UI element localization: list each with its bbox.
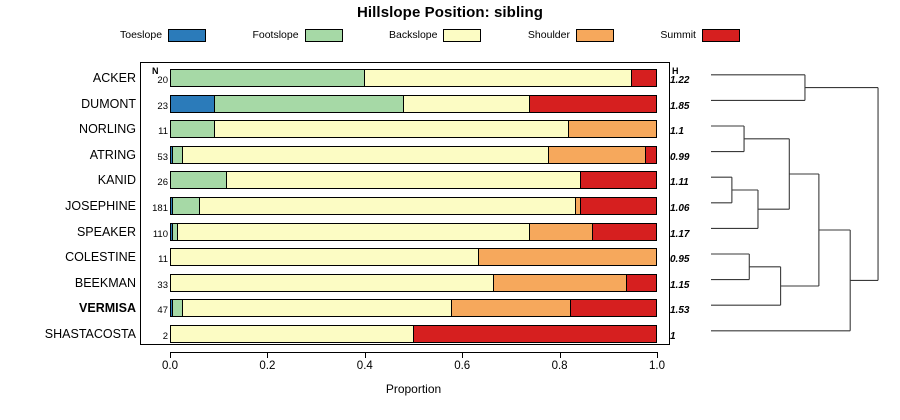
stacked-bar	[170, 248, 657, 266]
row-h-value: 1.11	[670, 168, 704, 194]
bar-segment-summit	[627, 275, 656, 291]
x-tick-label: 0.2	[247, 360, 287, 372]
row-label-speaker: SPEAKER	[77, 220, 136, 246]
x-tick	[560, 352, 561, 358]
row-label-josephine: JOSEPHINE	[65, 194, 136, 220]
bar-segment-summit	[571, 300, 656, 316]
bar-segment-shoulder	[549, 147, 646, 163]
legend-item-backslope: Backslope	[389, 29, 481, 42]
bar-segment-backslope	[404, 96, 530, 112]
x-tick	[170, 352, 171, 358]
row-h-value: 1.06	[670, 194, 704, 220]
row-n-value: 23	[148, 92, 168, 118]
legend-item-toeslope: Toeslope	[120, 29, 206, 42]
bar-segment-footslope	[171, 172, 227, 188]
x-tick-label: 0.0	[150, 360, 190, 372]
stacked-bar	[170, 95, 657, 113]
row-n-value: 20	[148, 66, 168, 92]
row-n-value: 26	[148, 168, 168, 194]
row-h-value: 1.1	[670, 117, 704, 143]
bar-segment-shoulder	[494, 275, 627, 291]
row-n-value: 11	[148, 245, 168, 271]
stacked-bar	[170, 120, 657, 138]
legend-label: Backslope	[389, 29, 437, 41]
row-label-acker: ACKER	[93, 66, 136, 92]
bar-segment-shoulder	[479, 249, 656, 265]
row-n-value: 110	[148, 220, 168, 246]
legend-item-footslope: Footslope	[252, 29, 342, 42]
legend-label: Footslope	[252, 29, 298, 41]
row-h-value: 1.22	[670, 66, 704, 92]
legend: Toeslope Footslope Backslope Shoulder Su…	[120, 26, 740, 44]
x-axis-title: Proportion	[170, 382, 657, 396]
stacked-bar	[170, 274, 657, 292]
row-h-value: 1.15	[670, 271, 704, 297]
bar-segment-backslope	[171, 249, 479, 265]
legend-label: Shoulder	[528, 29, 570, 41]
bar-segment-toeslope	[171, 96, 215, 112]
x-axis-line	[170, 352, 657, 353]
legend-item-summit: Summit	[660, 29, 740, 42]
row-n-value: 53	[148, 143, 168, 169]
x-tick	[267, 352, 268, 358]
legend-swatch	[576, 29, 614, 42]
bar-segment-summit	[646, 147, 656, 163]
bar-segment-backslope	[227, 172, 581, 188]
row-h-value: 1.85	[670, 92, 704, 118]
legend-swatch	[305, 29, 343, 42]
stacked-bar	[170, 69, 657, 87]
bar-segment-footslope	[173, 198, 200, 214]
bar-segment-footslope	[171, 121, 215, 137]
row-n-value: 11	[148, 117, 168, 143]
row-label-atring: ATRING	[90, 143, 136, 169]
bar-segment-footslope	[173, 300, 183, 316]
x-tick-label: 0.4	[345, 360, 385, 372]
stacked-bar	[170, 146, 657, 164]
bar-segment-summit	[581, 198, 656, 214]
stacked-bar	[170, 299, 657, 317]
row-h-value: 1	[670, 322, 704, 348]
x-tick	[462, 352, 463, 358]
bar-segment-backslope	[178, 224, 530, 240]
stacked-bar	[170, 223, 657, 241]
legend-swatch	[702, 29, 740, 42]
chart-title: Hillslope Position: sibling	[0, 4, 900, 21]
row-n-value: 2	[148, 322, 168, 348]
x-tick	[365, 352, 366, 358]
x-tick	[657, 352, 658, 358]
bar-segment-backslope	[171, 275, 494, 291]
bar-segment-shoulder	[530, 224, 593, 240]
bar-segment-summit	[632, 70, 656, 86]
legend-label: Toeslope	[120, 29, 162, 41]
x-tick-label: 0.8	[540, 360, 580, 372]
bar-segment-backslope	[183, 300, 452, 316]
x-tick-label: 1.0	[637, 360, 677, 372]
bar-segment-backslope	[183, 147, 549, 163]
stacked-bar	[170, 197, 657, 215]
bar-segment-summit	[581, 172, 656, 188]
chart-root: Hillslope Position: sibling Toeslope Foo…	[0, 0, 900, 420]
row-n-value: 181	[148, 194, 168, 220]
row-label-shastacosta: SHASTACOSTA	[45, 322, 136, 348]
legend-swatch	[168, 29, 206, 42]
row-label-vermisa: VERMISA	[79, 296, 136, 322]
dendrogram	[700, 62, 896, 345]
row-h-value: 0.95	[670, 245, 704, 271]
bar-segment-footslope	[171, 70, 365, 86]
bar-segment-shoulder	[452, 300, 571, 316]
stacked-bar	[170, 171, 657, 189]
bar-segment-backslope	[215, 121, 569, 137]
legend-label: Summit	[660, 29, 696, 41]
row-h-value: 0.99	[670, 143, 704, 169]
bar-segment-summit	[593, 224, 656, 240]
row-n-value: 47	[148, 296, 168, 322]
legend-item-shoulder: Shoulder	[528, 29, 614, 42]
stacked-bar	[170, 325, 657, 343]
row-label-beekman: BEEKMAN	[75, 271, 136, 297]
row-label-dumont: DUMONT	[81, 92, 136, 118]
x-tick-label: 0.6	[442, 360, 482, 372]
bar-segment-backslope	[200, 198, 576, 214]
bar-segment-footslope	[173, 147, 183, 163]
row-h-value: 1.17	[670, 220, 704, 246]
bar-segment-backslope	[171, 326, 414, 342]
row-h-value: 1.53	[670, 296, 704, 322]
bar-segment-summit	[414, 326, 657, 342]
bar-segment-shoulder	[569, 121, 656, 137]
row-label-kanid: KANID	[98, 168, 136, 194]
bar-segment-summit	[530, 96, 656, 112]
row-n-value: 33	[148, 271, 168, 297]
bar-segment-footslope	[215, 96, 404, 112]
row-label-norling: NORLING	[79, 117, 136, 143]
row-label-colestine: COLESTINE	[65, 245, 136, 271]
legend-swatch	[443, 29, 481, 42]
bar-segment-backslope	[365, 70, 632, 86]
